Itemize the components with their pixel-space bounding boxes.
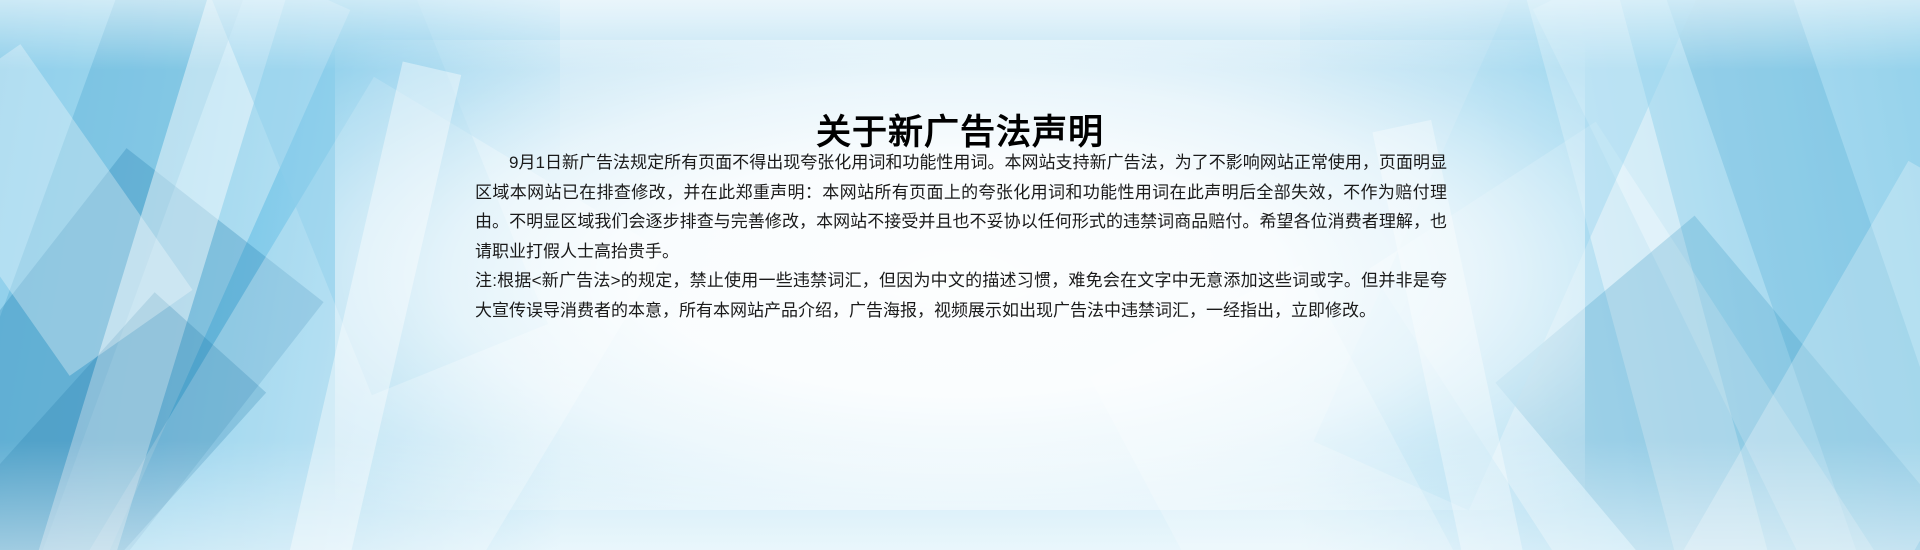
statement-content: 关于新广告法声明 9月1日新广告法规定所有页面不得出现夸张化用词和功能性用词。本… [470,0,1450,550]
statement-paragraph-note: 注:根据<新广告法>的规定，禁止使用一些违禁词汇，但因为中文的描述习惯，难免会在… [475,266,1447,325]
statement-paragraph-main: 9月1日新广告法规定所有页面不得出现夸张化用词和功能性用词。本网站支持新广告法，… [475,148,1447,266]
advertising-law-statement-banner: 关于新广告法声明 9月1日新广告法规定所有页面不得出现夸张化用词和功能性用词。本… [0,0,1920,550]
statement-body: 9月1日新广告法规定所有页面不得出现夸张化用词和功能性用词。本网站支持新广告法，… [475,148,1447,325]
